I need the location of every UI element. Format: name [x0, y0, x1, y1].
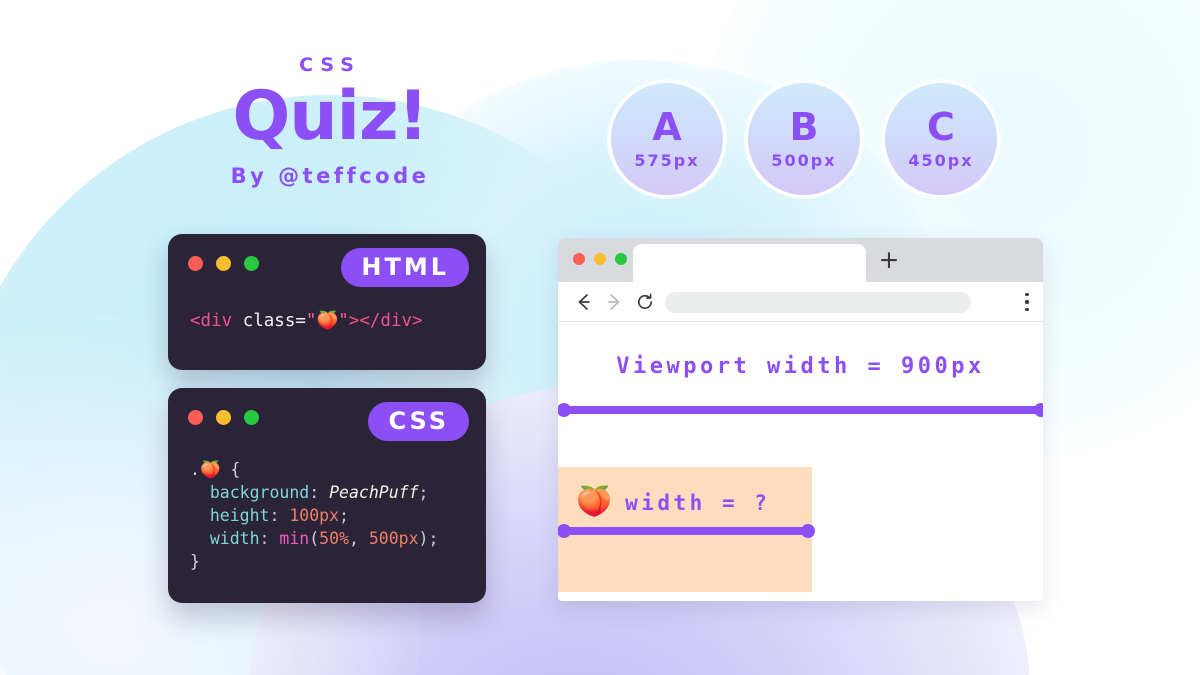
css-paren-open: (	[309, 529, 319, 548]
css-min-arg-px: 500px	[369, 529, 419, 548]
css-brace-close: }	[190, 552, 200, 571]
browser-window: + Viewport width = 900px 🍑 widt	[558, 238, 1043, 601]
css-language-badge: CSS	[368, 402, 469, 441]
measure-endpoint-left	[558, 403, 571, 417]
css-paren-close: )	[419, 529, 429, 548]
peach-emoji-icon: 🍑	[576, 487, 612, 516]
answer-value: 575px	[634, 151, 699, 170]
close-dot-icon[interactable]	[188, 256, 203, 271]
viewport-width-label: Viewport width = 900px	[558, 354, 1043, 379]
back-arrow-icon[interactable]	[573, 291, 595, 313]
css-semicolon: ;	[428, 529, 438, 548]
page-title: Quiz!	[150, 81, 510, 152]
html-attr-name: class=	[243, 311, 306, 331]
css-prop-height: height	[210, 506, 270, 525]
peach-emoji-icon: 🍑	[200, 460, 221, 479]
forward-arrow-icon[interactable]	[603, 291, 625, 313]
poster-canvas: CSS Quiz! By @teffcode A 575px B 500px C…	[0, 0, 1200, 675]
headline-block: CSS Quiz! By @teffcode	[150, 56, 510, 188]
html-quote-close: "	[338, 311, 349, 331]
css-function-min: min	[279, 529, 309, 548]
answer-value: 500px	[771, 151, 836, 170]
minimize-dot-icon[interactable]	[216, 410, 231, 425]
answer-option-a[interactable]: A 575px	[608, 80, 726, 198]
html-card-window-controls	[188, 256, 259, 271]
css-selector-dot: .	[190, 460, 200, 479]
maximize-dot-icon[interactable]	[615, 253, 627, 265]
css-min-arg-percent: 50%	[319, 529, 349, 548]
measure-endpoint-right	[801, 524, 815, 538]
css-code-snippet: .🍑 { background: PeachPuff; height: 100p…	[190, 458, 474, 573]
url-input[interactable]	[665, 292, 971, 313]
html-code-card: HTML <div class="🍑"></div>	[168, 234, 486, 370]
kicker-text: CSS	[150, 56, 510, 75]
minimize-dot-icon[interactable]	[594, 253, 606, 265]
css-value-height: 100px	[289, 506, 339, 525]
peach-emoji-icon: 🍑	[316, 311, 338, 331]
browser-nav-bar	[558, 282, 1043, 322]
css-comma: ,	[349, 529, 369, 548]
css-semicolon: ;	[339, 506, 349, 525]
html-open-tag: <div	[190, 311, 243, 331]
css-colon: :	[269, 506, 289, 525]
new-tab-button[interactable]: +	[878, 249, 900, 271]
peach-measure-line	[558, 527, 814, 535]
css-colon: :	[309, 483, 329, 502]
answer-option-b[interactable]: B 500px	[745, 80, 863, 198]
browser-viewport: Viewport width = 900px 🍑 width = ?	[558, 322, 1043, 600]
browser-window-controls	[573, 253, 627, 265]
css-semicolon: ;	[419, 483, 429, 502]
close-dot-icon[interactable]	[573, 253, 585, 265]
maximize-dot-icon[interactable]	[244, 256, 259, 271]
css-value-peachpuff: PeachPuff	[329, 483, 418, 502]
author-byline: By @teffcode	[150, 164, 510, 188]
more-menu-icon[interactable]	[1025, 293, 1029, 311]
html-code-snippet: <div class="🍑"></div>	[190, 310, 474, 333]
answer-option-c[interactable]: C 450px	[882, 80, 1000, 198]
html-language-badge: HTML	[341, 248, 469, 287]
browser-tab-bar: +	[558, 238, 1043, 282]
measure-endpoint-right	[1034, 403, 1043, 417]
reload-icon[interactable]	[634, 291, 656, 313]
html-quote-open: "	[306, 311, 317, 331]
answer-letter: C	[927, 108, 955, 146]
maximize-dot-icon[interactable]	[244, 410, 259, 425]
browser-tab-active[interactable]	[633, 244, 866, 282]
answer-options: A 575px B 500px C 450px	[608, 80, 1000, 198]
html-closing-tag: </div>	[359, 311, 422, 331]
close-dot-icon[interactable]	[188, 410, 203, 425]
answer-letter: B	[790, 108, 819, 146]
peach-width-label: width = ?	[625, 491, 770, 515]
css-colon: :	[260, 529, 280, 548]
css-card-window-controls	[188, 410, 259, 425]
viewport-measure-line	[558, 406, 1043, 414]
answer-value: 450px	[908, 151, 973, 170]
answer-letter: A	[652, 108, 681, 146]
css-code-card: CSS .🍑 { background: PeachPuff; height: …	[168, 388, 486, 603]
css-prop-background: background	[210, 483, 309, 502]
html-tag-close: >	[349, 311, 360, 331]
css-prop-width: width	[210, 529, 260, 548]
minimize-dot-icon[interactable]	[216, 256, 231, 271]
css-brace-open: {	[220, 460, 240, 479]
